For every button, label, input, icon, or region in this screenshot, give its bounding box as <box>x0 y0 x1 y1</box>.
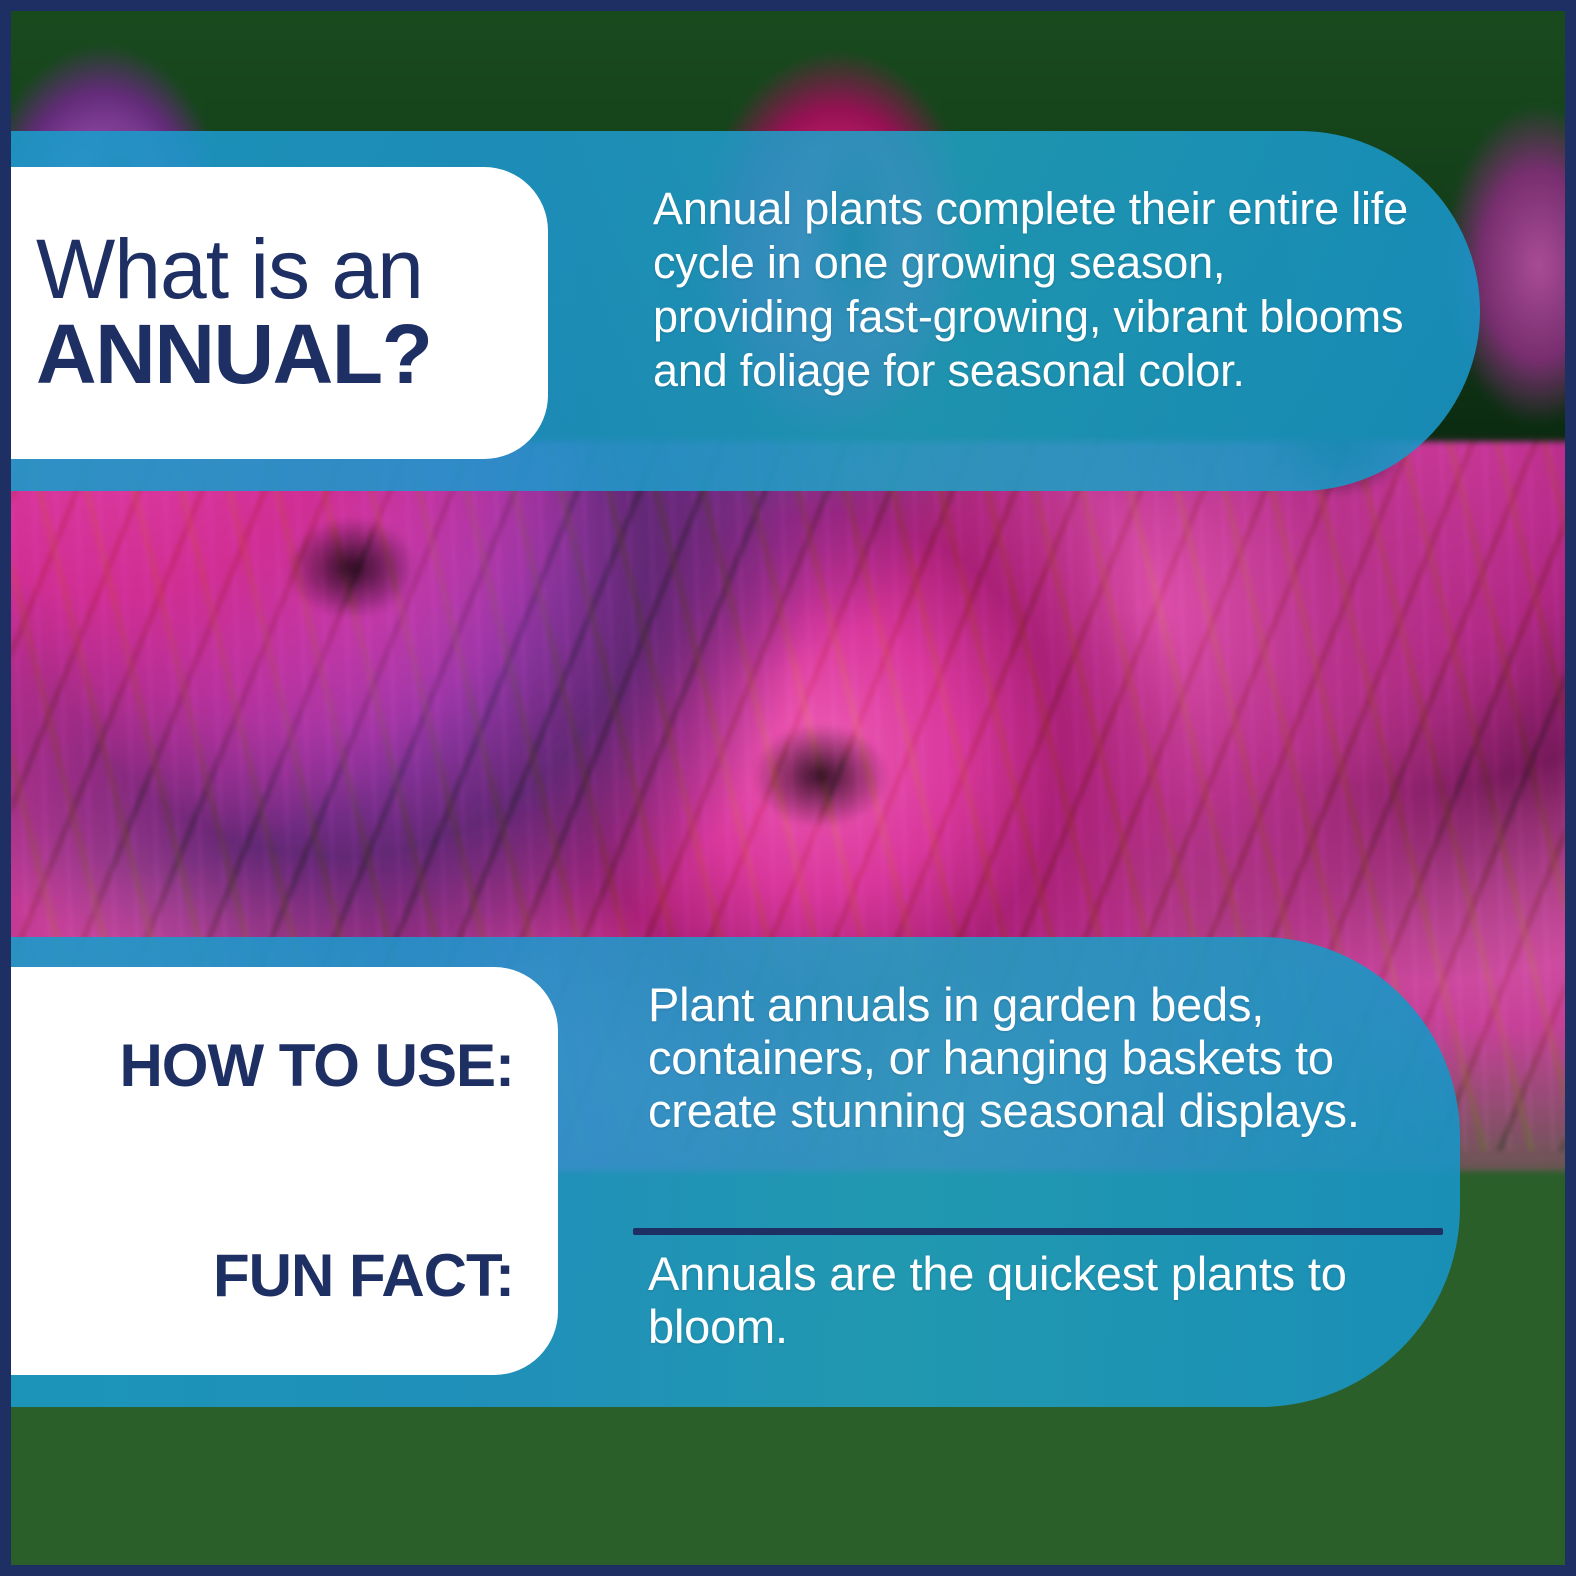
infographic-card: What is an ANNUAL? Annual plants complet… <box>0 0 1576 1576</box>
fun-fact-text: Annuals are the quickest plants to bloom… <box>648 1247 1468 1353</box>
page-title-line-1: What is an <box>36 228 504 310</box>
frame-border-top <box>0 0 1576 11</box>
section-labels-card: HOW TO USE: FUN FACT: <box>0 967 558 1375</box>
page-title-line-2: ANNUAL? <box>36 310 504 398</box>
how-to-use-text: Plant annuals in garden beds, containers… <box>648 978 1468 1137</box>
frame-border-left <box>0 0 11 1576</box>
label-fun-fact: FUN FACT: <box>36 1246 514 1306</box>
section-divider <box>633 1228 1443 1235</box>
title-card: What is an ANNUAL? <box>0 167 548 459</box>
frame-border-bottom <box>0 1565 1576 1576</box>
label-how-to-use: HOW TO USE: <box>36 1036 514 1096</box>
definition-text: Annual plants complete their entire life… <box>653 182 1413 398</box>
frame-border-right <box>1565 0 1576 1576</box>
